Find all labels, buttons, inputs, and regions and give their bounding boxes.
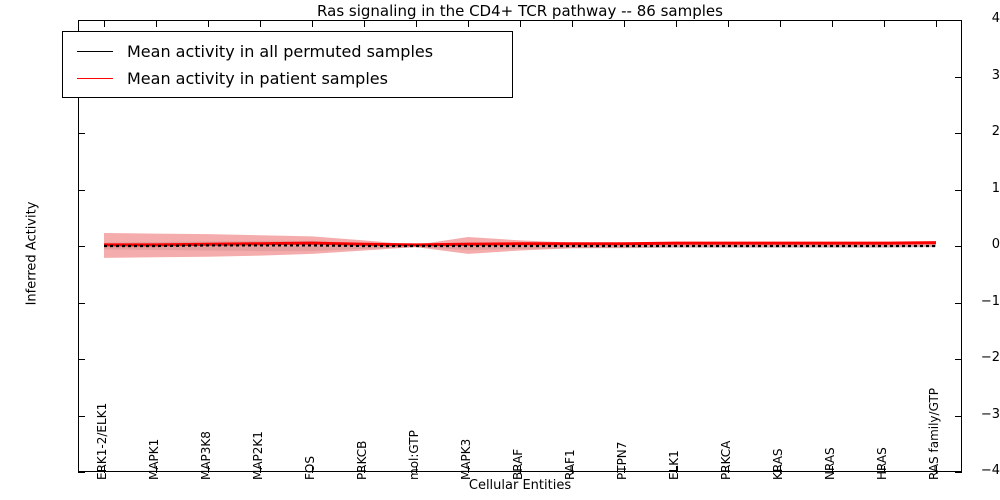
legend-line-swatch-red	[77, 78, 113, 79]
legend-label-patient: Mean activity in patient samples	[127, 69, 388, 88]
chart-legend: Mean activity in all permuted samples Me…	[62, 31, 513, 98]
y-tick-mark	[955, 472, 962, 473]
y-axis-label: Inferred Activity	[25, 144, 40, 364]
legend-item-patient: Mean activity in patient samples	[73, 65, 502, 92]
chart-figure: Ras signaling in the CD4+ TCR pathway --…	[0, 0, 1000, 500]
series-line	[104, 243, 936, 245]
legend-line-swatch-black	[77, 51, 113, 52]
x-axis-label: Cellular Entities	[78, 478, 962, 493]
y-tick-mark	[78, 472, 85, 473]
legend-item-permuted: Mean activity in all permuted samples	[73, 38, 502, 65]
chart-title: Ras signaling in the CD4+ TCR pathway --…	[78, 2, 962, 20]
legend-label-permuted: Mean activity in all permuted samples	[127, 42, 433, 61]
